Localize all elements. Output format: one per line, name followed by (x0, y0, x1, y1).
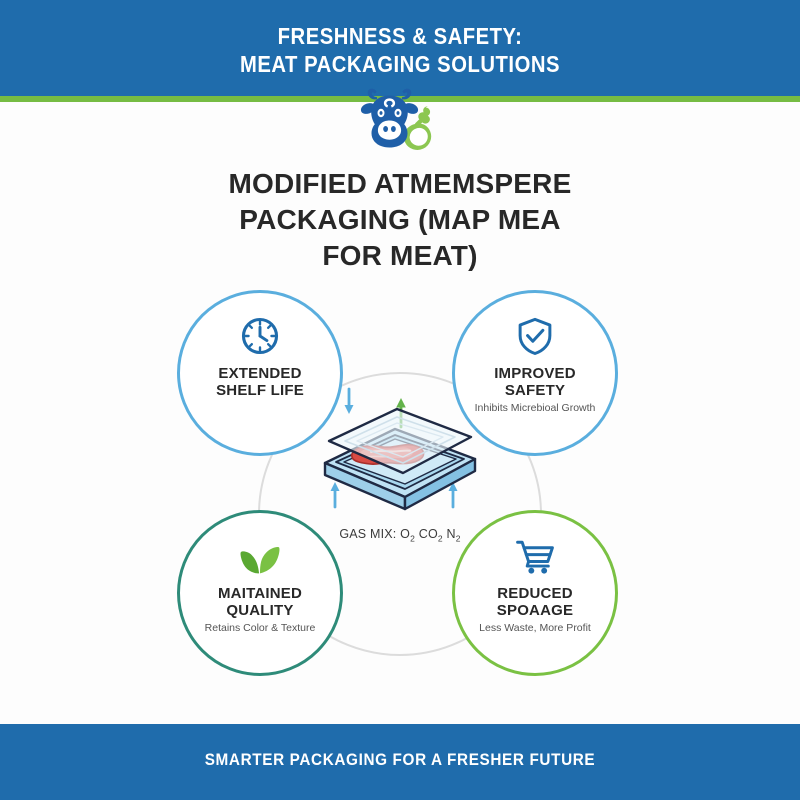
pillar-title-line2: SHELF LIFE (216, 382, 304, 399)
pillar-title: IMPROVED SAFETY (482, 365, 588, 399)
pillar-subtitle: Retains Color & Texture (191, 622, 330, 635)
cow-head-and-ham-icon (357, 86, 443, 152)
pillar-title: REDUCED SPOAAGE (485, 585, 585, 619)
pillar-title-line2: SPOAAGE (497, 602, 573, 619)
infographic-poster: FRESHNESS & SAFETY: MEAT PACKAGING SOLUT… (0, 0, 800, 800)
pillar-subtitle: Less Waste, More Profit (465, 622, 605, 635)
page-title-line3: FOR MEAT) (100, 238, 700, 274)
gas-mix-label: GAS MIX: O2 CO2 N2 (300, 527, 500, 544)
gas-symbol-o2: O2 (400, 527, 415, 541)
gas-symbol-n2: N2 (447, 527, 461, 541)
pillar-title: EXTENDED SHELF LIFE (204, 365, 316, 399)
page-title: MODIFIED ATMEMSPERE PACKAGING (MAP MEA F… (100, 166, 700, 274)
header-title-line1: FRESHNESS & SAFETY: (278, 23, 523, 49)
gas-symbol-co2: CO2 (419, 527, 443, 541)
header-title: FRESHNESS & SAFETY: MEAT PACKAGING SOLUT… (48, 22, 752, 78)
pillar-title-line1: EXTENDED (218, 365, 301, 382)
pillar-title-line2: SAFETY (505, 382, 565, 399)
header-title-line2: MEAT PACKAGING SOLUTIONS (48, 50, 752, 78)
pillar-title-line1: REDUCED (497, 585, 573, 602)
map-meat-tray-illustration (305, 385, 495, 515)
page-title-line2: PACKAGING (MAP MEA (100, 202, 700, 238)
pillar-title-line1: MAITAINED (218, 585, 302, 602)
pillar-title-line1: IMPROVED (494, 365, 576, 382)
shopping-cart-icon (513, 533, 557, 579)
gas-mix-prefix: GAS MIX: (339, 527, 400, 541)
shield-check-icon (514, 313, 556, 359)
pillar-title-line2: QUALITY (226, 602, 293, 619)
header-band: FRESHNESS & SAFETY: MEAT PACKAGING SOLUT… (0, 0, 800, 96)
footer-band: SMARTER PACKAGING FOR A FRESHER FUTURE (0, 724, 800, 800)
clock-icon (238, 313, 282, 359)
pillar-title: MAITAINED QUALITY (206, 585, 314, 619)
page-title-line1: MODIFIED ATMEMSPERE (100, 166, 700, 202)
leaves-icon (238, 533, 282, 579)
footer-tagline: SMARTER PACKAGING FOR A FRESHER FUTURE (40, 750, 760, 770)
